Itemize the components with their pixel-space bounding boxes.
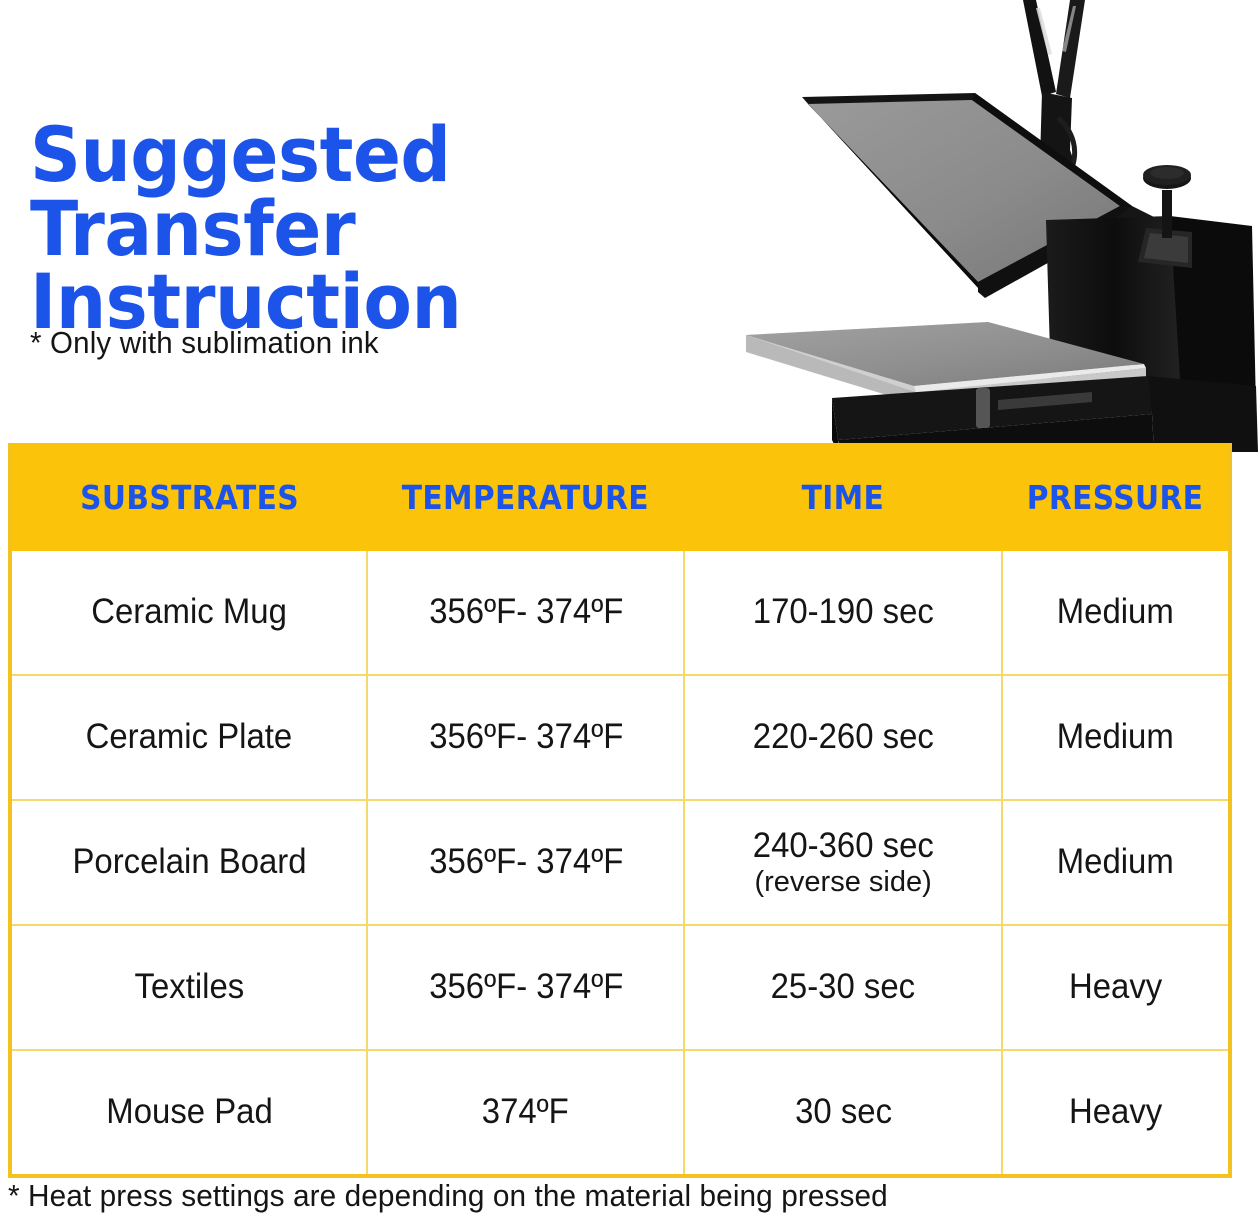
page-title: Suggested Transfer Instruction [30,118,774,339]
table-row: Mouse Pad 374ºF 30 sec Heavy [12,1050,1228,1174]
column-header-substrates: SUBSTRATES [12,443,367,551]
cell-pressure: Heavy [1002,925,1228,1050]
table-row: Porcelain Board 356ºF- 374ºF 240-360 sec… [12,800,1228,925]
cell-time: 220-260 sec [684,675,1001,800]
column-header-substrates-label: SUBSTRATES [80,478,299,517]
cell-substrate-value: Textiles [134,969,244,1006]
cell-time: 30 sec [684,1050,1001,1174]
column-header-temperature: TEMPERATURE [367,443,684,551]
cell-time: 170-190 sec [684,551,1001,675]
cell-time-value: 30 sec [795,1094,892,1131]
lower-platen [746,322,1146,404]
cell-pressure: Medium [1002,675,1228,800]
press-body [1046,216,1256,418]
cell-temperature: 356ºF- 374ºF [367,551,684,675]
cell-pressure-value: Heavy [1069,969,1162,1006]
cell-pressure-value: Medium [1057,844,1174,881]
column-header-pressure-label: PRESSURE [1027,478,1204,517]
press-handle-arm [1023,0,1085,206]
table-row: Ceramic Mug 356ºF- 374ºF 170-190 sec Med… [12,551,1228,675]
heat-press-icon [740,0,1260,480]
table-row: Ceramic Plate 356ºF- 374ºF 220-260 sec M… [12,675,1228,800]
cell-time-subnote: (reverse side) [689,867,996,897]
cell-substrate-value: Ceramic Mug [91,594,287,631]
cell-substrate: Textiles [12,925,367,1050]
cell-time: 25-30 sec [684,925,1001,1050]
cell-pressure-value: Medium [1057,719,1174,756]
cell-temperature-value: 356ºF- 374ºF [429,594,623,631]
heat-press-illustration [740,0,1260,480]
cell-temperature: 356ºF- 374ºF [367,925,684,1050]
cell-substrate-value: Ceramic Plate [86,719,293,756]
cell-substrate-value: Mouse Pad [106,1094,272,1131]
cell-substrate: Mouse Pad [12,1050,367,1174]
transfer-settings-table: SUBSTRATES TEMPERATURE TIME PRESSURE Cer… [8,443,1232,1178]
cell-temperature-value: 356ºF- 374ºF [429,719,623,756]
cell-substrate: Ceramic Mug [12,551,367,675]
cell-time-value: 25-30 sec [771,969,915,1006]
table-header-row: SUBSTRATES TEMPERATURE TIME PRESSURE [12,443,1228,551]
cell-pressure-value: Medium [1057,594,1174,631]
cell-pressure: Medium [1002,800,1228,925]
footer-note: * Heat press settings are depending on t… [8,1178,888,1214]
pressure-knob [1143,165,1191,238]
cell-time-value: 240-360 sec [753,828,934,865]
cell-substrate-value: Porcelain Board [72,844,306,881]
cell-substrate: Ceramic Plate [12,675,367,800]
cell-substrate: Porcelain Board [12,800,367,925]
column-header-time-label: TIME [802,478,885,517]
column-header-time: TIME [684,443,1001,551]
cell-time-value: 170-190 sec [753,594,934,631]
sublimation-note: * Only with sublimation ink [30,325,379,361]
column-header-temperature-label: TEMPERATURE [402,478,649,517]
cell-temperature-value: 356ºF- 374ºF [429,969,623,1006]
cell-pressure-value: Heavy [1069,1094,1162,1131]
upper-platen [802,93,1172,298]
column-header-pressure: PRESSURE [1002,443,1228,551]
cell-pressure: Heavy [1002,1050,1228,1174]
cell-temperature-value: 374ºF [482,1094,569,1131]
cell-time-value: 220-260 sec [753,719,934,756]
cell-temperature: 356ºF- 374ºF [367,800,684,925]
cell-temperature-value: 356ºF- 374ºF [429,844,623,881]
cell-time: 240-360 sec (reverse side) [684,800,1001,925]
cell-temperature: 374ºF [367,1050,684,1174]
table-row: Textiles 356ºF- 374ºF 25-30 sec Heavy [12,925,1228,1050]
cell-pressure: Medium [1002,551,1228,675]
cell-temperature: 356ºF- 374ºF [367,675,684,800]
